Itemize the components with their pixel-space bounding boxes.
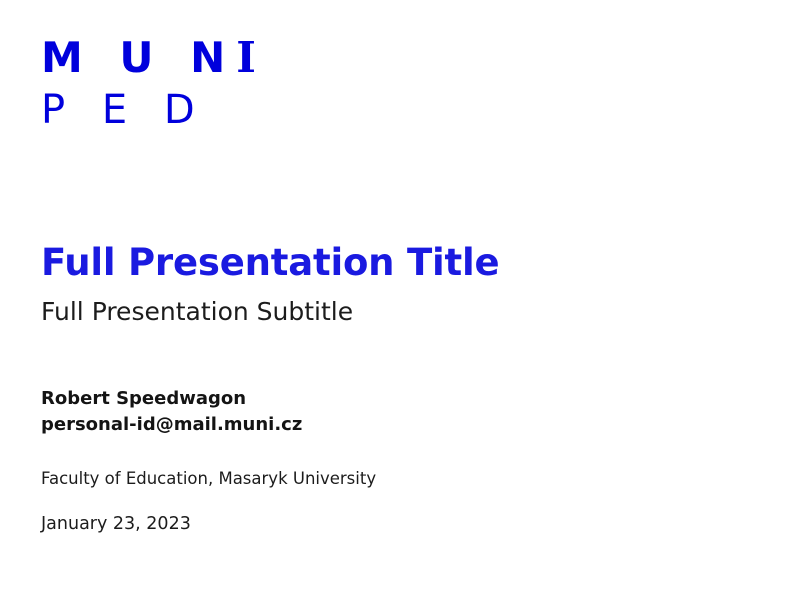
logo-ped-wordmark: P E D <box>41 89 256 131</box>
logo-muni-serif-i: I <box>236 33 256 82</box>
affiliation: Faculty of Education, Masaryk University <box>41 467 741 491</box>
author-block: Robert Speedwagon personal-id@mail.muni.… <box>41 386 741 438</box>
author-email: personal-id@mail.muni.cz <box>41 412 741 438</box>
logo-muni-wordmark: M U NI <box>41 36 256 80</box>
muni-ped-logo: M U NI P E D <box>41 36 256 131</box>
presentation-title: Full Presentation Title <box>41 240 741 286</box>
author-name: Robert Speedwagon <box>41 386 741 412</box>
slide-content: Full Presentation Title Full Presentatio… <box>41 240 741 537</box>
logo-muni-text: M U N <box>41 33 236 82</box>
presentation-subtitle: Full Presentation Subtitle <box>41 295 741 329</box>
presentation-date: January 23, 2023 <box>41 512 741 537</box>
title-slide: M U NI P E D Full Presentation Title Ful… <box>0 0 794 596</box>
